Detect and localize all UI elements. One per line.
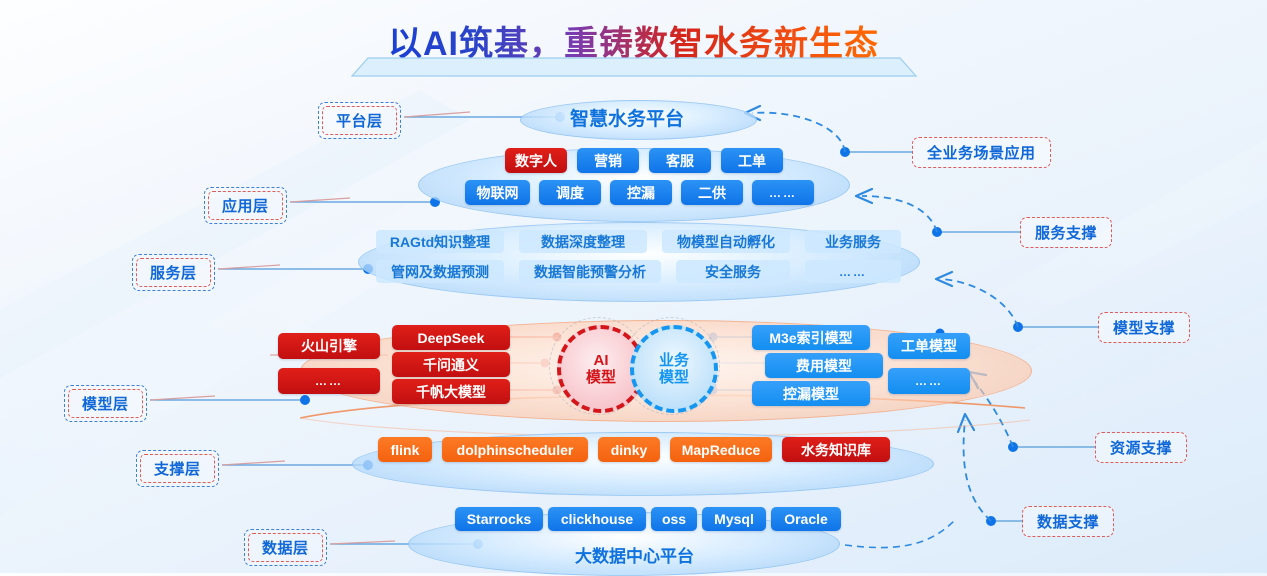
svc-chip-smart-early-warning[interactable]: 数据智能预警分析: [519, 260, 661, 283]
layer-label-support[interactable]: 支撑层: [136, 450, 219, 487]
service-row2: 管网及数据预测 数据智能预警分析 安全服务 ……: [376, 260, 901, 284]
page-title: 以AI筑基，重铸数智水务新生态: [388, 16, 879, 65]
svc-chip-business-service[interactable]: 业务服务: [805, 230, 901, 253]
core-biz-line2: 模型: [659, 369, 689, 386]
support-chip-dolphinscheduler[interactable]: dolphinscheduler: [442, 437, 588, 462]
app-chip-customer-service[interactable]: 客服: [649, 148, 711, 173]
model-chip-left-more[interactable]: ……: [278, 368, 380, 394]
support-chip-flink[interactable]: flink: [378, 437, 432, 462]
application-row1: 数字人 营销 客服 工单: [440, 148, 840, 174]
data-chip-starrocks[interactable]: Starrocks: [455, 507, 543, 531]
data-chip-clickhouse[interactable]: clickhouse: [548, 507, 646, 531]
core-biz-line1: 业务: [659, 352, 689, 369]
support-label-data[interactable]: 数据支撑: [1022, 506, 1114, 537]
support-label-model[interactable]: 模型支撑: [1098, 312, 1190, 343]
application-row2: 物联网 调度 控漏 二供 ……: [440, 180, 840, 206]
svc-chip-security-service[interactable]: 安全服务: [676, 260, 790, 283]
layer-label-platform[interactable]: 平台层: [318, 102, 401, 139]
title-block: 以AI筑基，重铸数智水务新生态: [0, 16, 1267, 65]
data-chip-mysql[interactable]: Mysql: [702, 507, 766, 531]
model-chip-deepseek[interactable]: DeepSeek: [392, 325, 510, 350]
layer-label-model[interactable]: 模型层: [64, 385, 147, 422]
layer-label-data-text: 数据层: [248, 533, 323, 562]
model-chip-m3e-index[interactable]: M3e索引模型: [752, 325, 870, 350]
svc-chip-rag-knowledge[interactable]: RAGtd知识整理: [376, 230, 504, 253]
data-platform-name: 大数据中心平台: [575, 542, 694, 567]
diagram-canvas: 以AI筑基，重铸数智水务新生态: [0, 0, 1267, 573]
app-chip-iot[interactable]: 物联网: [465, 180, 530, 205]
core-ai-line2: 模型: [586, 369, 616, 386]
app-chip-leak-control[interactable]: 控漏: [610, 180, 672, 205]
svc-chip-data-deep-sort[interactable]: 数据深度整理: [519, 230, 647, 253]
support-chip-water-knowledge-base[interactable]: 水务知识库: [782, 437, 890, 462]
core-ai-line1: AI: [586, 352, 616, 369]
layer-label-service-text: 服务层: [136, 258, 211, 287]
data-chip-oss[interactable]: oss: [651, 507, 697, 531]
svc-chip-thing-model-incubation[interactable]: 物模型自动孵化: [662, 230, 790, 253]
support-label-resource[interactable]: 资源支撑: [1095, 432, 1187, 463]
app-chip-work-order[interactable]: 工单: [721, 148, 783, 173]
model-chip-qianfan[interactable]: 千帆大模型: [392, 379, 510, 404]
support-label-scenario[interactable]: 全业务场景应用: [912, 137, 1051, 168]
model-chip-fee-model[interactable]: 费用模型: [765, 353, 883, 378]
data-chip-oracle[interactable]: Oracle: [771, 507, 841, 531]
support-label-service[interactable]: 服务支撑: [1020, 217, 1112, 248]
layer-label-application[interactable]: 应用层: [204, 187, 287, 224]
layer-label-support-text: 支撑层: [140, 454, 215, 483]
layer-label-application-text: 应用层: [208, 191, 283, 220]
layer-label-platform-text: 平台层: [322, 106, 397, 135]
app-chip-more[interactable]: ……: [752, 180, 814, 205]
svc-chip-pipe-data-forecast[interactable]: 管网及数据预测: [376, 260, 504, 283]
model-chip-leak-model[interactable]: 控漏模型: [752, 381, 870, 406]
platform-name: 智慧水务平台: [570, 104, 684, 131]
app-chip-dispatch[interactable]: 调度: [539, 180, 601, 205]
layer-label-data[interactable]: 数据层: [244, 529, 327, 566]
layer-label-model-text: 模型层: [68, 389, 143, 418]
app-chip-digital-human[interactable]: 数字人: [505, 148, 567, 173]
model-chip-volcano-engine[interactable]: 火山引擎: [278, 333, 380, 359]
model-chip-work-order-model[interactable]: 工单模型: [888, 333, 970, 359]
model-chip-right-more[interactable]: ……: [888, 368, 970, 394]
support-chip-dinky[interactable]: dinky: [598, 437, 660, 462]
layer-label-service[interactable]: 服务层: [132, 254, 215, 291]
core-circle-business-model[interactable]: 业务 模型: [630, 325, 718, 413]
model-chip-qianwen[interactable]: 千问通义: [392, 352, 510, 377]
data-row: Starrocks clickhouse oss Mysql Oracle: [455, 507, 845, 533]
svc-chip-more[interactable]: ……: [805, 260, 901, 283]
app-chip-marketing[interactable]: 营销: [577, 148, 639, 173]
support-row: flink dolphinscheduler dinky MapReduce 水…: [378, 437, 898, 463]
support-chip-mapreduce[interactable]: MapReduce: [670, 437, 772, 462]
service-row1: RAGtd知识整理 数据深度整理 物模型自动孵化 业务服务: [376, 230, 901, 254]
app-chip-secondary-supply[interactable]: 二供: [681, 180, 743, 205]
